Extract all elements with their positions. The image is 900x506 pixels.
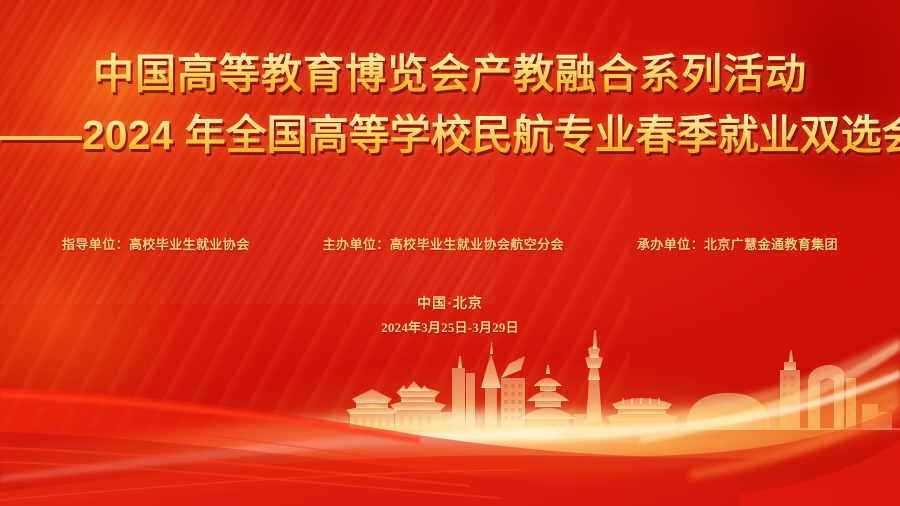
event-location: 中国·北京 [0,293,900,313]
event-location-block: 中国·北京 2024年3月25日-3月29日 [0,293,900,336]
organizer-guiding-unit: 指导单位：高校毕业生就业协会 [62,234,250,253]
text-layer: 中国高等教育博览会产教融合系列活动 ——2024 年全国高等学校民航专业春季就业… [0,0,900,506]
event-dates: 2024年3月25日-3月29日 [0,317,900,336]
organizer-host-unit: 主办单位：高校毕业生就业协会航空分会 [323,234,564,253]
organizer-row: 指导单位：高校毕业生就业协会 主办单位：高校毕业生就业协会航空分会 承办单位：北… [0,234,900,253]
page-title: 中国高等教育博览会产教融合系列活动 [0,52,900,97]
organizer-organizing-unit: 承办单位：北京广慧金通教育集团 [637,234,838,253]
event-banner: 中国高等教育博览会产教融合系列活动 ——2024 年全国高等学校民航专业春季就业… [0,0,900,506]
page-subtitle: ——2024 年全国高等学校民航专业春季就业双选会 [0,113,900,158]
